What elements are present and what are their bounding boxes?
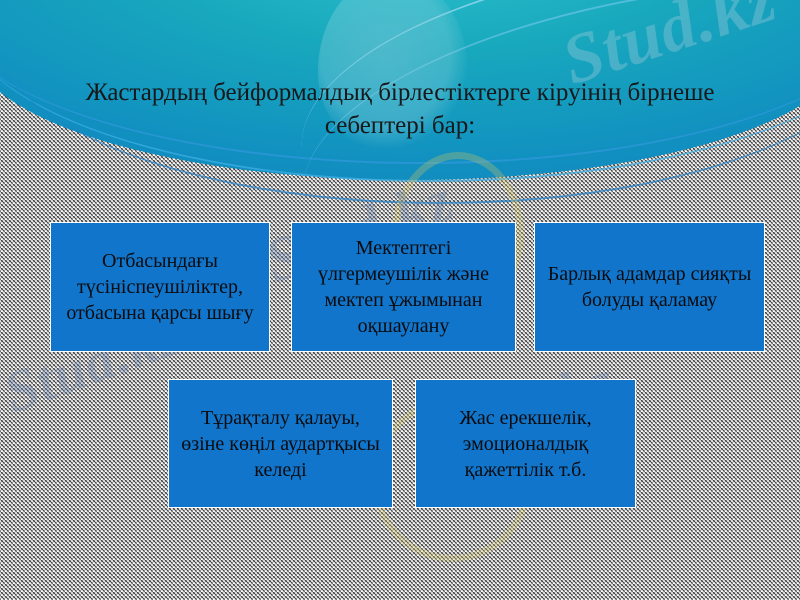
presentation-slide: Stud.kz Stud.kz Stud.kz Stud.kz Жастарды… [0,0,800,600]
reason-box-4-label: Тұрақталу қалауы, өзіне көңіл аудартқысы… [179,405,382,483]
slide-title: Жастардың бейформалдық бірлестіктерге кі… [40,76,760,142]
reason-box-3[interactable]: Барлық адамдар сияқты болуды қаламау [534,222,765,352]
reason-box-5[interactable]: Жас ерекшелік, эмоционалдық қажеттілік т… [415,379,636,508]
reason-box-2-label: Мектептегі үлгермеушілік және мектеп ұжы… [302,235,505,339]
reason-box-4[interactable]: Тұрақталу қалауы, өзіне көңіл аудартқысы… [168,379,393,508]
reason-box-2[interactable]: Мектептегі үлгермеушілік және мектеп ұжы… [291,222,516,352]
reason-box-3-label: Барлық адамдар сияқты болуды қаламау [545,261,754,313]
reason-box-1[interactable]: Отбасындағы түсініспеушіліктер, отбасына… [50,222,270,352]
reason-box-5-label: Жас ерекшелік, эмоционалдық қажеттілік т… [426,405,625,483]
reason-box-1-label: Отбасындағы түсініспеушіліктер, отбасына… [61,248,259,326]
